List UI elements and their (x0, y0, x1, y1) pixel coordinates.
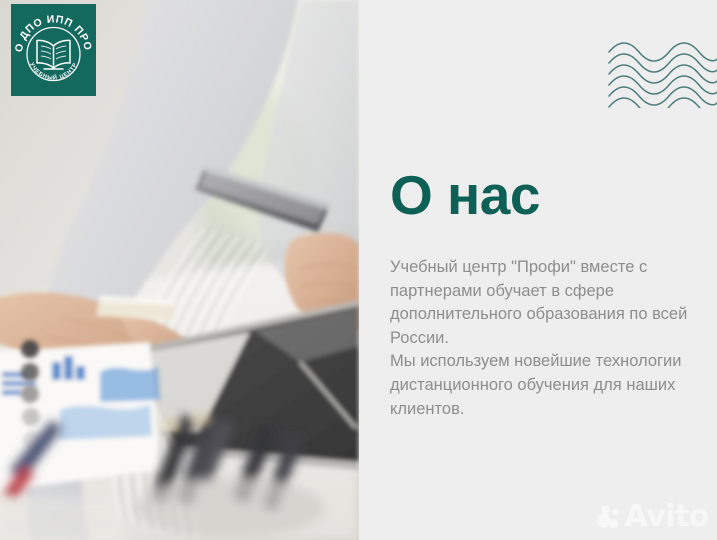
about-paragraph-1: Учебный центр "Профи" вместе с партнерам… (390, 256, 700, 350)
hands-tablet-phone-photo: АНО ДПО ИПП ПРОФИ УЧЕБНЫЙ ЦЕНТР (0, 0, 359, 540)
avito-watermark: Avito (596, 502, 709, 532)
avito-wordmark: Avito (625, 502, 709, 532)
about-us-slide: АНО ДПО ИПП ПРОФИ УЧЕБНЫЙ ЦЕНТР (0, 0, 717, 540)
ano-dpo-ipp-profi-logo: АНО ДПО ИПП ПРОФИ УЧЕБНЫЙ ЦЕНТР (11, 4, 96, 96)
wave-lines-decoration (607, 38, 717, 108)
page-title: О нас (390, 168, 540, 223)
about-description: Учебный центр "Профи" вместе с партнерам… (390, 256, 700, 421)
logo-emblem: АНО ДПО ИПП ПРОФИ УЧЕБНЫЙ ЦЕНТР (11, 4, 96, 96)
avito-dots-icon (596, 504, 622, 530)
about-paragraph-2: Мы используем новейшие технологии дистан… (390, 350, 700, 421)
about-content-panel: О нас Учебный центр "Профи" вместе с пар… (359, 0, 717, 540)
wave-lines-icon (607, 38, 717, 108)
